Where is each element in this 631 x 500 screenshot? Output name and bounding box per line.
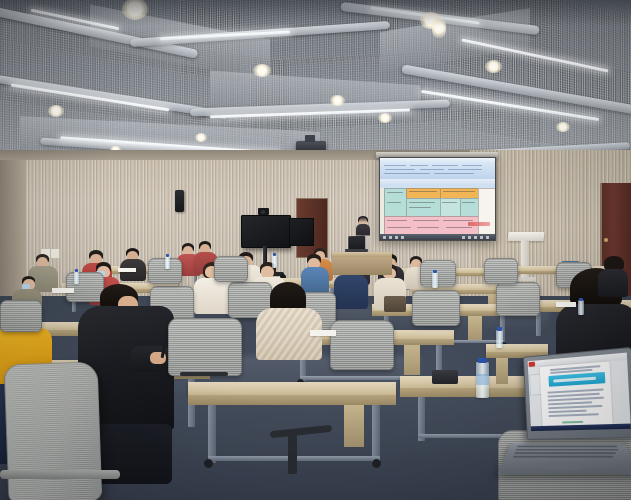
torso — [334, 275, 368, 309]
notebook-paper[interactable] — [52, 288, 74, 293]
ceiling-downlight — [485, 60, 502, 73]
foreground-laptop[interactable] — [505, 352, 631, 500]
classroom-photo-scene — [0, 0, 631, 500]
office-chair[interactable] — [214, 256, 248, 282]
ceiling-downlight — [48, 105, 64, 117]
torso — [598, 269, 628, 297]
bottle-cap — [478, 358, 487, 363]
ceiling-downlight — [253, 64, 271, 77]
empty-office-chair[interactable] — [4, 361, 103, 500]
wall-tv-monitor-secondary[interactable] — [289, 218, 314, 246]
bottle-cap — [497, 327, 502, 331]
water-bottle[interactable] — [272, 255, 277, 268]
chair-frame — [180, 372, 228, 376]
office-chair[interactable] — [496, 282, 540, 316]
bottle-cap — [433, 270, 437, 273]
empty-office-chair-armrest — [0, 470, 120, 479]
notebook-paper[interactable] — [556, 302, 576, 307]
water-bottle[interactable] — [496, 330, 503, 348]
handbag[interactable] — [432, 370, 458, 384]
desk-leg — [372, 405, 380, 463]
torso — [194, 278, 232, 314]
ceiling-shadow — [0, 0, 631, 26]
cell-block-empty — [478, 188, 496, 236]
desk-caster — [204, 459, 213, 468]
wall-speaker — [175, 190, 184, 212]
office-chair[interactable] — [0, 300, 42, 332]
chair-gas-cylinder — [288, 434, 297, 474]
bottle-cap — [75, 269, 78, 272]
presenter-table-front — [332, 257, 392, 275]
water-bottle[interactable] — [432, 272, 438, 288]
laptop-keyboard[interactable] — [497, 443, 631, 474]
video-camera-icon — [258, 208, 269, 215]
cell-block-teal — [440, 198, 462, 218]
desk-modesty-panel — [468, 316, 482, 340]
office-chair[interactable] — [420, 260, 456, 287]
office-chair[interactable] — [484, 258, 518, 284]
laptop-screen[interactable] — [528, 353, 631, 432]
notebook-paper[interactable] — [118, 268, 136, 272]
handbag[interactable] — [384, 296, 406, 312]
desk-modesty-panel — [404, 345, 420, 375]
water-bottle[interactable] — [74, 271, 79, 284]
desk-modesty-panel — [344, 405, 364, 447]
ceiling-downlight — [195, 133, 207, 142]
ceiling-downlight — [556, 122, 570, 132]
app-logo-icon — [529, 362, 536, 367]
bottle-label — [476, 374, 489, 385]
desk — [188, 382, 396, 395]
office-chair[interactable] — [330, 320, 394, 370]
ceiling-downlight — [378, 113, 392, 123]
hair — [604, 256, 624, 270]
water-bottle[interactable] — [578, 300, 584, 315]
ceiling-downlight — [330, 95, 345, 106]
water-bottle[interactable] — [165, 256, 170, 269]
projected-spreadsheet — [380, 158, 495, 240]
spreadsheet-taskbar — [380, 234, 495, 240]
cell-block-teal — [460, 198, 480, 218]
office-chair[interactable] — [168, 318, 242, 376]
wall-tv-monitor[interactable] — [241, 215, 291, 248]
spreadsheet-watermark — [468, 222, 490, 226]
bottle-cap — [579, 298, 583, 301]
laptop-trackpad[interactable] — [545, 462, 582, 470]
torso — [301, 267, 329, 295]
projection-screen — [379, 157, 496, 241]
laptop-lid — [523, 347, 631, 440]
door-right-handle[interactable] — [604, 238, 608, 242]
bottle-cap — [166, 254, 169, 257]
office-chair[interactable] — [412, 290, 460, 326]
desk-leg — [208, 405, 216, 463]
desk-caster — [372, 459, 381, 468]
office-chair[interactable] — [66, 272, 104, 302]
notebook-paper[interactable] — [310, 330, 336, 336]
bottle-cap — [273, 253, 276, 256]
desk-edge — [188, 395, 396, 405]
cell-block-pink — [384, 216, 480, 236]
